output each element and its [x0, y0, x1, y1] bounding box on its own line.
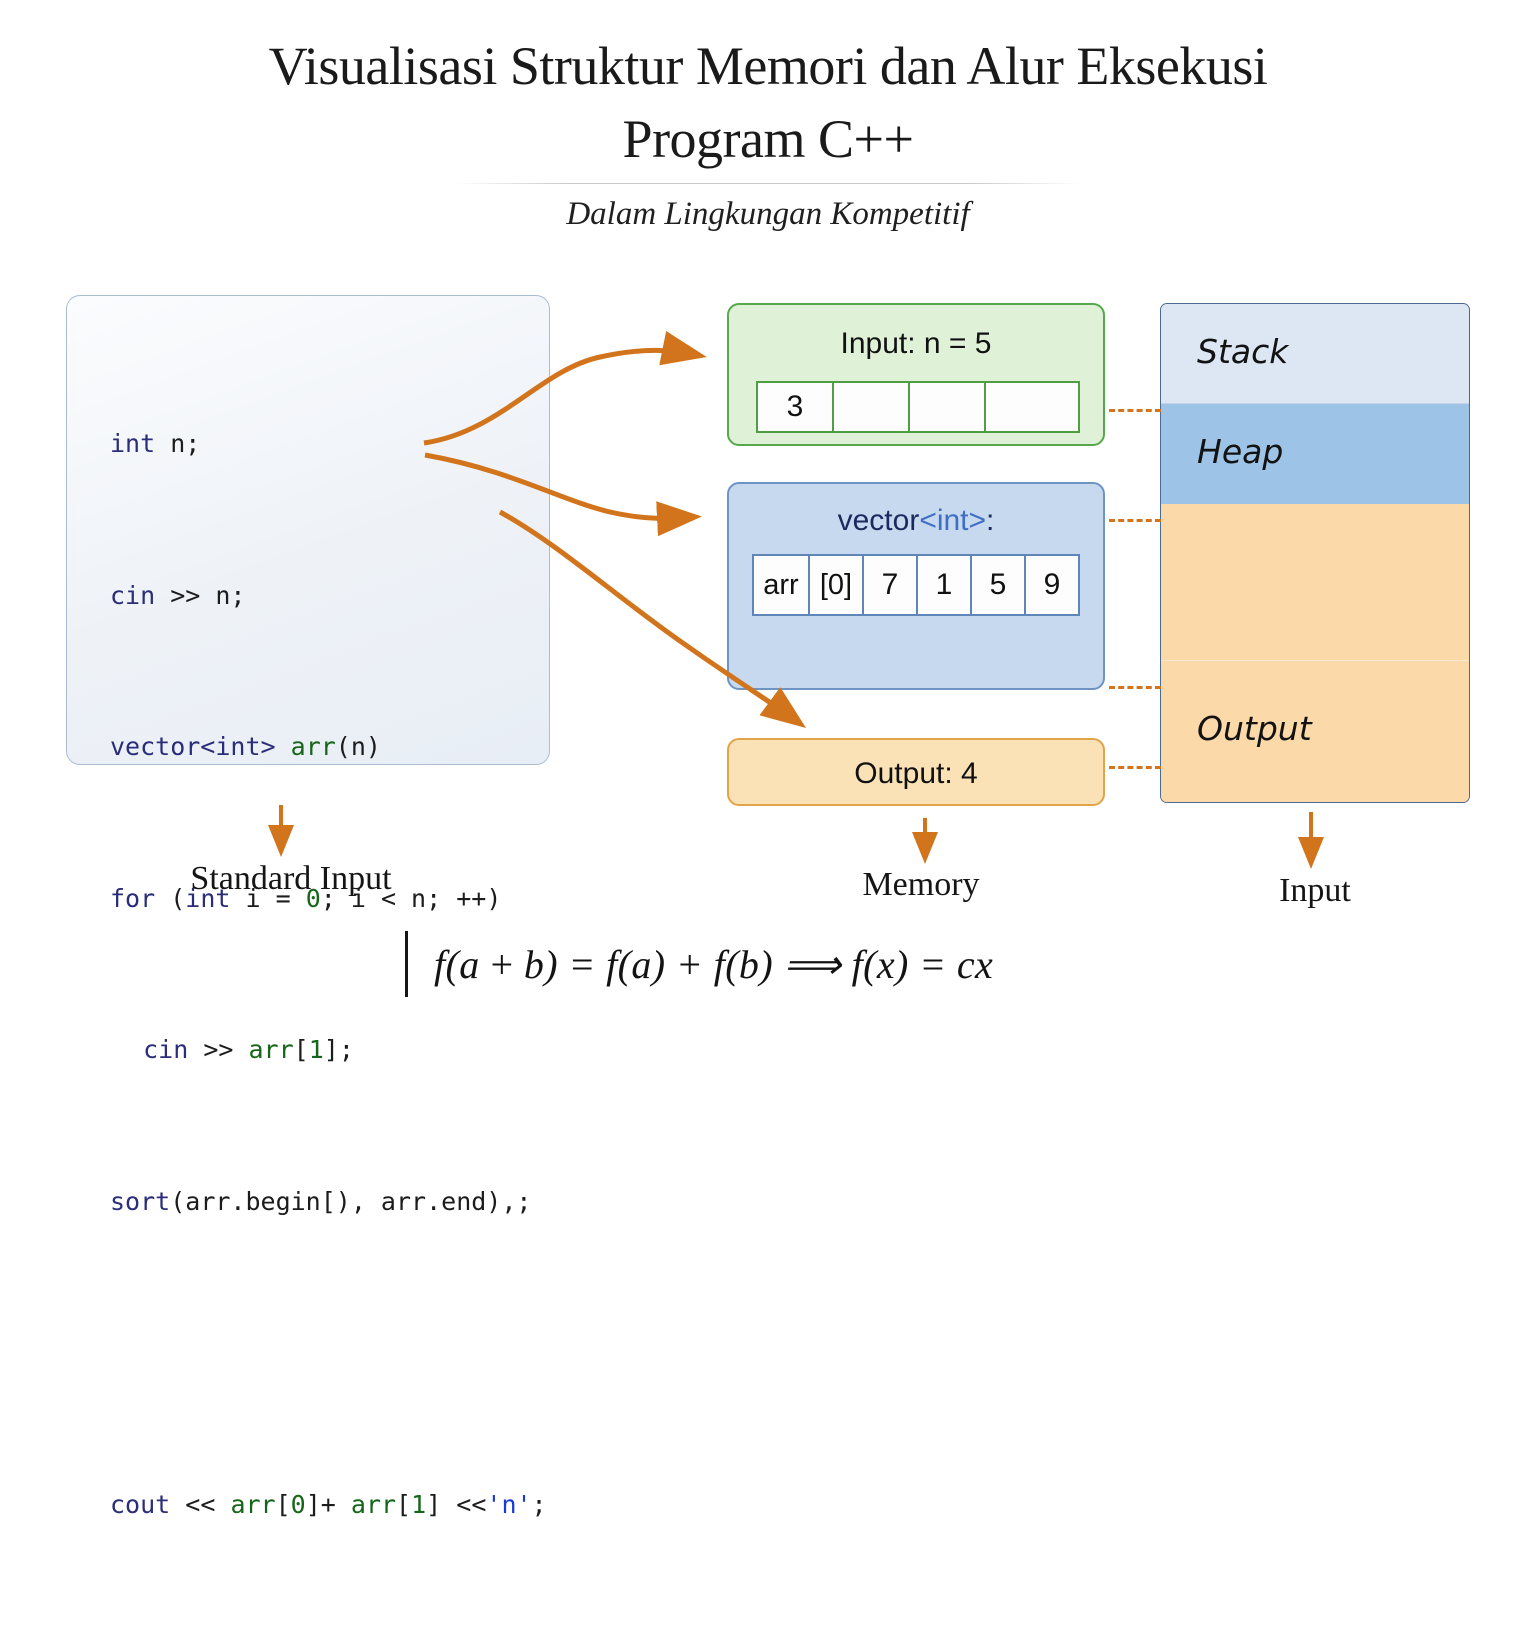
vector-cell: 7	[862, 554, 918, 616]
code-line-6: sort(arr.begin[), arr.end),;	[110, 1177, 670, 1228]
dashed-connector-vector-top	[1109, 519, 1161, 522]
code-line-2: cin >> n;	[110, 571, 670, 622]
output-box: Output: 4	[727, 738, 1105, 806]
input-cell: 3	[756, 381, 834, 433]
formula-vertical-bar	[405, 931, 408, 997]
vector-cell: arr	[752, 554, 810, 616]
input-cell	[832, 381, 910, 433]
slide-canvas: Visualisasi Struktur Memori dan Alur Eks…	[0, 0, 1536, 1024]
vector-title-suffix: :	[986, 504, 994, 537]
memory-band-output: Output	[1161, 660, 1469, 802]
input-box-title: Input: n = 5	[729, 327, 1103, 361]
label-input: Input	[1165, 872, 1465, 910]
vector-title-generic: <int>	[919, 504, 986, 537]
vector-cell: 1	[916, 554, 972, 616]
formula-expression: f(a + b) = f(a) + f(b) ⟹ f(x) = cx	[434, 941, 993, 988]
formula-block: f(a + b) = f(a) + f(b) ⟹ f(x) = cx	[405, 928, 1165, 1000]
input-box: Input: n = 5 3	[727, 303, 1105, 446]
title-line-2: Program C++	[0, 103, 1536, 176]
dashed-connector-output	[1109, 766, 1161, 769]
title-line-1: Visualisasi Struktur Memori dan Alur Eks…	[0, 30, 1536, 103]
vector-cell: 9	[1024, 554, 1080, 616]
code-line-8: cout << arr[0]+ arr[1] <<'n';	[110, 1480, 670, 1531]
memory-band-label: Output	[1197, 709, 1312, 748]
vector-title-prefix: vector	[838, 504, 920, 537]
memory-band-label: Heap	[1197, 432, 1283, 471]
memory-band-label: Stack	[1197, 332, 1288, 371]
page-subtitle: Dalam Lingkungan Kompetitif	[0, 196, 1536, 233]
memory-band-free	[1161, 504, 1469, 660]
label-standard-input: Standard Input	[96, 860, 486, 898]
vector-cell: [0]	[808, 554, 864, 616]
vector-box: vector<int>: arr [0] 7 1 5 9	[727, 482, 1105, 690]
vector-cell: 5	[970, 554, 1026, 616]
output-box-title: Output: 4	[729, 757, 1103, 791]
vector-cell-row: arr [0] 7 1 5 9	[752, 554, 1080, 616]
vector-box-title: vector<int>:	[729, 504, 1103, 538]
code-line-1: int n;	[110, 419, 670, 470]
memory-band-heap: Heap	[1161, 404, 1469, 504]
code-line-5: cin >> arr[1];	[110, 1025, 670, 1076]
code-line-7	[110, 1328, 670, 1379]
input-cell	[984, 381, 1080, 433]
input-cell-row: 3	[756, 381, 1080, 433]
dashed-connector-vector-bottom	[1109, 686, 1161, 689]
memory-band-stack: Stack	[1161, 304, 1469, 404]
code-line-3: vector<int> arr(n)	[110, 722, 670, 773]
page-title: Visualisasi Struktur Memori dan Alur Eks…	[0, 30, 1536, 176]
memory-column: Stack Heap Output	[1160, 303, 1470, 803]
dashed-connector-input	[1109, 409, 1161, 412]
input-cell	[908, 381, 986, 433]
label-memory: Memory	[742, 866, 1100, 904]
title-divider	[455, 183, 1081, 184]
